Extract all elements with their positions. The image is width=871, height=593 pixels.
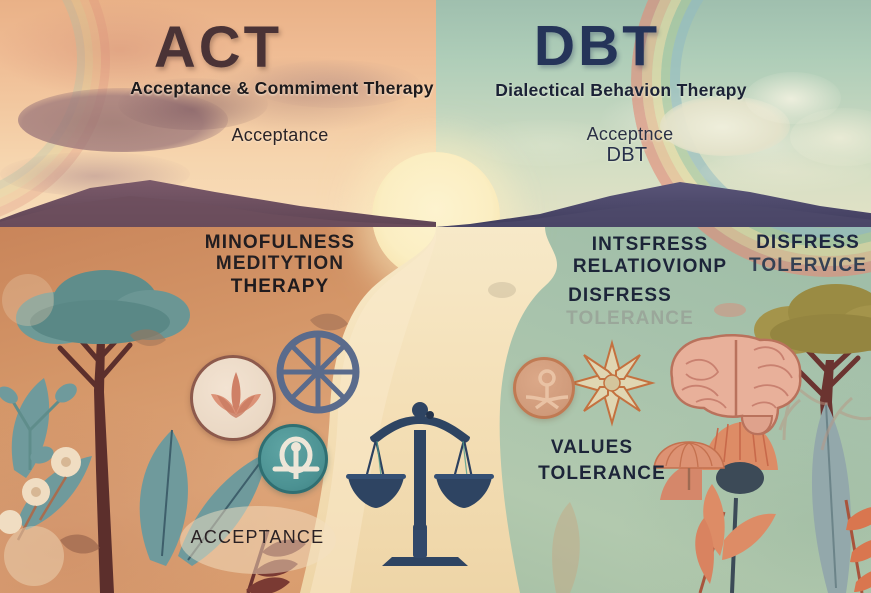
meditation-figure-icon-right <box>513 357 575 419</box>
tall-leaf-right <box>812 402 851 593</box>
dbt-keyword-2: DBT <box>557 144 697 167</box>
dbt-interpersonal-line-1: INTSFRESS <box>560 234 740 256</box>
act-keyword: Acceptance <box>195 125 365 146</box>
right-mountain-range <box>436 182 871 227</box>
act-title: ACT <box>118 14 318 81</box>
dbt-distress-line-2: TOLERANCE <box>550 308 710 330</box>
dbt-distress-right-2: TOLERVICE <box>728 255 871 277</box>
dbt-values-line-2: TOLERANCE <box>512 463 692 485</box>
dbt-values-line-1: VALUES <box>527 437 657 459</box>
dbt-distress-right-1: DISFRESS <box>733 232 871 254</box>
dbt-title: DBT <box>502 13 692 79</box>
brain-icon <box>660 330 810 440</box>
leaf-cluster-right-inner <box>552 502 580 593</box>
act-highlight-1: MINOFULNESS <box>200 232 360 254</box>
dbt-subtitle: Dialectical Behavion Therapy <box>448 80 794 101</box>
meditation-figure-icon-left <box>258 424 328 494</box>
dbt-keyword-1: Acceptnce <box>545 124 715 145</box>
dbt-interpersonal-line-2: RELATIOVIONP <box>550 256 750 278</box>
dbt-distress-line-1: DISFRESS <box>555 285 685 307</box>
star-flower-icon <box>572 343 652 423</box>
dharma-wheel-icon <box>280 334 356 410</box>
act-subtitle: Acceptance & Commiment Therapy <box>110 78 454 99</box>
illustration-canvas: ACT Acceptance & Commiment Therapy Accep… <box>0 0 871 593</box>
act-bottom-label: ACCEPTANCE <box>185 527 330 548</box>
act-highlight-3: THERAPY <box>200 276 360 298</box>
act-highlight-2: MEDITYTION <box>200 253 360 275</box>
left-mountain-range <box>0 180 436 227</box>
